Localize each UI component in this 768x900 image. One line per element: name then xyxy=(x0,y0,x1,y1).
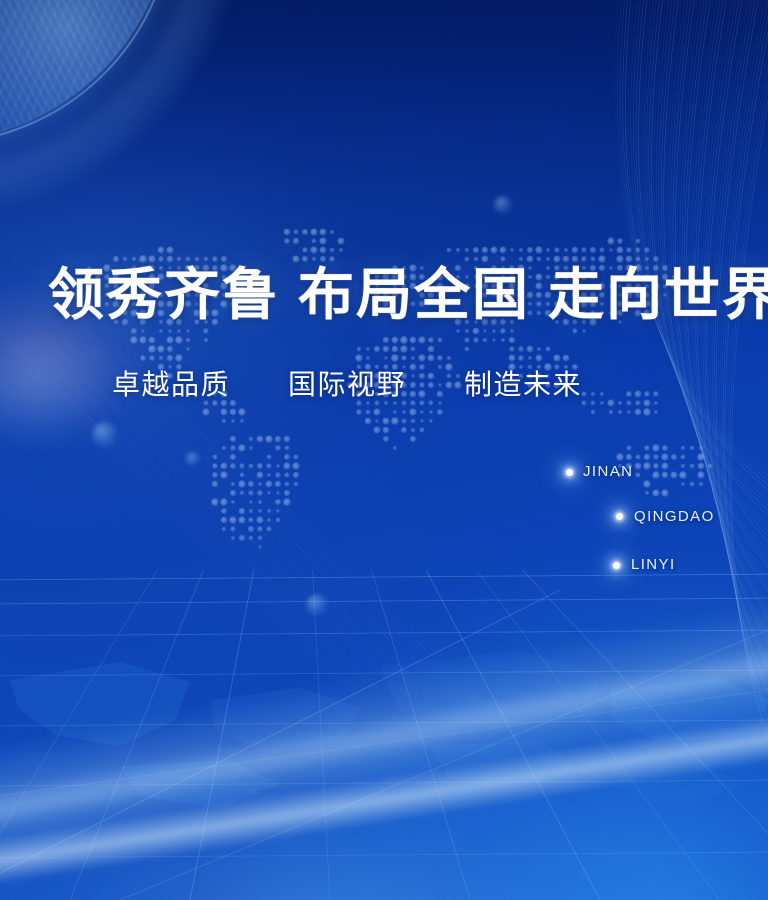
ground-plane xyxy=(0,570,768,900)
location-dot-icon[interactable] xyxy=(616,513,623,520)
subtitle-part-1: 卓越品质 xyxy=(112,369,230,400)
city-label-jinan[interactable]: JINAN xyxy=(583,463,633,480)
banner-hero: 领秀齐鲁布局全国走向世界 卓越品质国际视野制造未来 JINANQINGDAOLI… xyxy=(0,0,768,900)
location-dot-icon[interactable] xyxy=(613,562,620,569)
city-label-linyi[interactable]: LINYI xyxy=(631,556,676,573)
headline-part-2: 布局全国 xyxy=(298,265,530,327)
subtitle-part-3: 制造未来 xyxy=(464,369,582,400)
city-label-qingdao[interactable]: QINGDAO xyxy=(634,508,715,525)
subtitle-part-2: 国际视野 xyxy=(288,369,406,400)
bokeh-dot xyxy=(92,422,118,448)
page-subtitle: 卓越品质国际视野制造未来 xyxy=(112,371,582,399)
headline-part-3: 走向世界 xyxy=(548,265,768,327)
bokeh-dot xyxy=(186,452,200,466)
headline-part-1: 领秀齐鲁 xyxy=(48,265,280,327)
location-dot-icon[interactable] xyxy=(566,469,573,476)
bokeh-dot xyxy=(494,196,512,214)
page-title: 领秀齐鲁布局全国走向世界 xyxy=(48,268,768,324)
